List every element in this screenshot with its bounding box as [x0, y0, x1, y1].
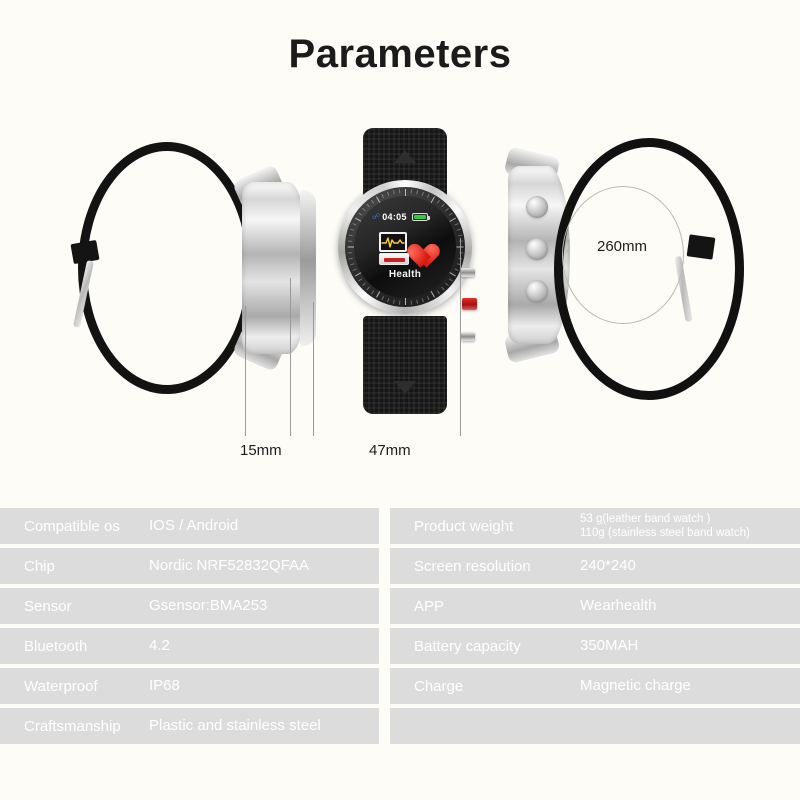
bluetooth-icon: ☍ — [372, 213, 380, 221]
spec-value: 240*240 — [580, 557, 636, 574]
dimension-label-15mm: 15mm — [240, 442, 282, 459]
spec-key: Product weight — [390, 518, 580, 535]
circumference-arc — [562, 186, 684, 324]
spec-value: IP68 — [149, 677, 180, 694]
watch-time: 04:05 — [382, 212, 407, 222]
watch-screen[interactable]: ☍ 04:05 — [354, 196, 456, 298]
watch-front-view: ☍ 04:05 — [330, 120, 480, 420]
table-row: Screen resolution 240*240 — [390, 548, 800, 584]
spec-value: Plastic and stainless steel — [149, 717, 321, 734]
leader-line-band-right — [290, 278, 291, 436]
spec-table-left: Compatible os IOS / Android Chip Nordic … — [0, 508, 379, 748]
spec-value: Gsensor:BMA253 — [149, 597, 267, 614]
spec-value: Magnetic charge — [580, 677, 691, 694]
spec-value: Nordic NRF52832QFAA — [149, 557, 309, 574]
table-row: Charge Magnetic charge — [390, 668, 800, 704]
dimension-label-47mm: 47mm — [369, 442, 411, 459]
table-row: Compatible os IOS / Android — [0, 508, 379, 544]
heart-ecg-monitor-icon — [377, 230, 433, 270]
watch-case-front: ☍ 04:05 — [338, 180, 472, 314]
watch-status-bar: ☍ 04:05 — [354, 212, 456, 222]
ecg-monitor-base — [379, 253, 409, 265]
ecg-screen — [379, 232, 407, 252]
watch-button-top[interactable] — [461, 268, 475, 277]
band-circumference-view: 260mm — [540, 128, 790, 428]
battery-icon — [412, 213, 428, 221]
table-row — [390, 708, 800, 744]
product-spec-page: Parameters — [0, 0, 800, 800]
spec-key: Bluetooth — [0, 638, 149, 655]
watch-band-loop-left — [78, 142, 256, 394]
spec-value: Wearhealth — [580, 597, 656, 614]
spec-key: Screen resolution — [390, 558, 580, 575]
spec-value: 350MAH — [580, 637, 638, 654]
spec-key: Sensor — [0, 598, 149, 615]
spec-value-line-2: 110g (stainless steel band watch) — [580, 526, 750, 540]
watch-case-side-left — [242, 182, 310, 354]
spec-key: Craftsmanship — [0, 718, 149, 735]
spec-key: Chip — [0, 558, 149, 575]
band-buckle-right — [687, 234, 716, 259]
watch-side-profile-left-view — [60, 130, 320, 420]
spec-key: Battery capacity — [390, 638, 580, 655]
spec-value: IOS / Android — [149, 517, 238, 534]
table-row: Waterproof IP68 — [0, 668, 379, 704]
strap-arrow-up-icon — [394, 150, 416, 163]
band-texture — [89, 153, 245, 383]
watch-strap-bottom — [363, 316, 447, 414]
spec-key: Waterproof — [0, 678, 149, 695]
table-row: APP Wearhealth — [390, 588, 800, 624]
ecg-waveform-icon — [381, 234, 405, 250]
leader-line-case-left — [313, 302, 314, 436]
spec-table-right: Product weight 53 g(leather band watch )… — [390, 508, 800, 748]
strap-arrow-down-icon — [394, 381, 416, 394]
table-row: Craftsmanship Plastic and stainless stee… — [0, 708, 379, 744]
watch-button-bottom[interactable] — [461, 332, 475, 341]
spec-value: 4.2 — [149, 637, 170, 654]
spec-key: Compatible os — [0, 518, 149, 535]
ecg-monitor-shape — [379, 232, 409, 266]
spec-key: APP — [390, 598, 580, 615]
table-row: Chip Nordic NRF52832QFAA — [0, 548, 379, 584]
table-row: Product weight 53 g(leather band watch )… — [390, 508, 800, 544]
watch-app-label: Health — [354, 269, 456, 280]
table-row: Battery capacity 350MAH — [390, 628, 800, 664]
table-row: Sensor Gsensor:BMA253 — [0, 588, 379, 624]
table-row: Bluetooth 4.2 — [0, 628, 379, 664]
specifications-section: Compatible os IOS / Android Chip Nordic … — [0, 492, 800, 800]
watch-button-middle-red[interactable] — [462, 298, 477, 310]
dimension-label-260mm: 260mm — [562, 238, 682, 255]
leader-line-case-right — [460, 238, 461, 436]
spec-key: Charge — [390, 678, 580, 695]
spec-value-line-1: 53 g(leather band watch ) — [580, 512, 750, 526]
spec-value: 53 g(leather band watch ) 110g (stainles… — [580, 512, 750, 541]
page-title: Parameters — [0, 32, 800, 77]
product-image-area: ☍ 04:05 — [0, 110, 800, 490]
leader-line-band-left — [245, 306, 246, 436]
